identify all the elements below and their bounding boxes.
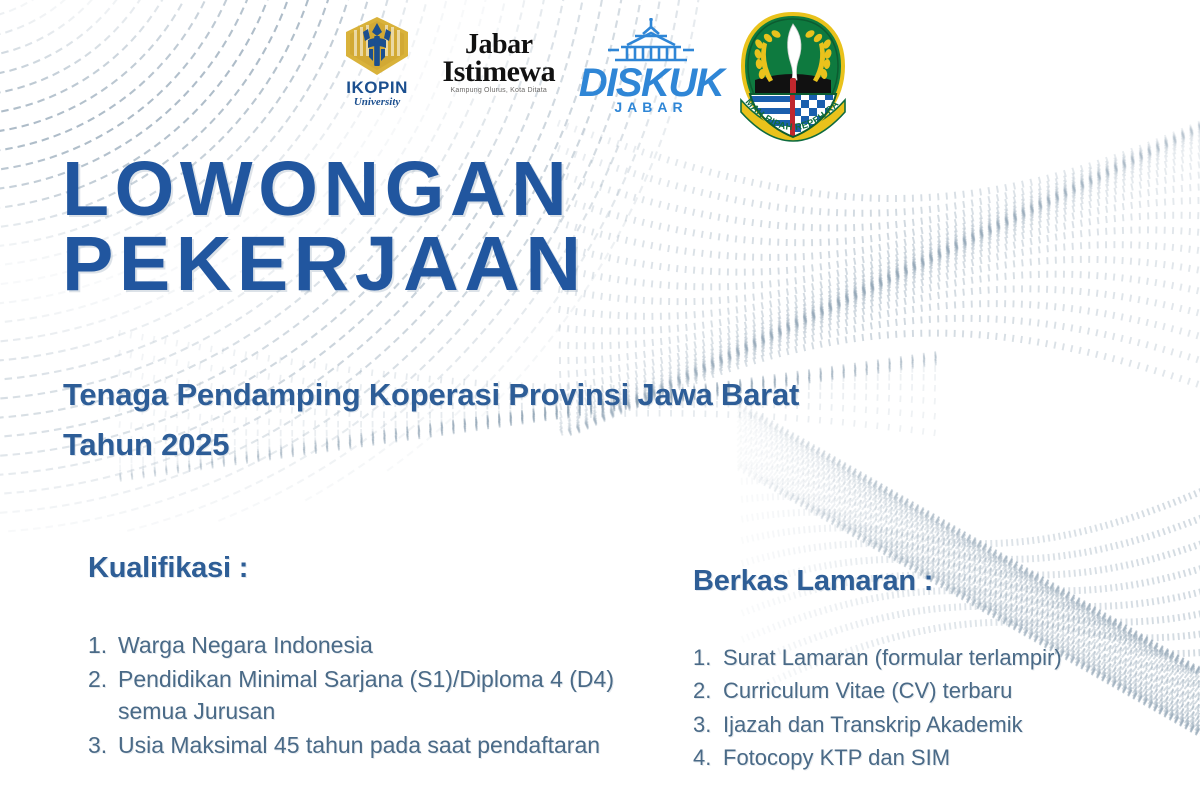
jabar-tagline: Kampung Olurus, Kota Ditata [430, 87, 567, 94]
subtitle-line-1: Tenaga Pendamping Koperasi Provinsi Jawa… [63, 370, 799, 420]
headline-line-1: LOWONGAN [62, 152, 586, 227]
diskuk-wordmark: DISKUK [577, 65, 724, 101]
list-item: Fotocopy KTP dan SIM [693, 742, 1183, 774]
documents-heading: Berkas Lamaran : [693, 565, 1183, 598]
headline-line-2: PEKERJAAN [62, 227, 586, 302]
ikopin-logo: IKOPIN University [330, 16, 424, 108]
list-item: Usia Maksimal 45 tahun pada saat pendaft… [88, 729, 648, 762]
list-item: Pendidikan Minimal Sarjana (S1)/Diploma … [88, 663, 648, 728]
poster-headline: LOWONGAN PEKERJAAN [62, 152, 586, 303]
qualifications-heading: Kualifikasi : [88, 552, 648, 585]
jabar-line2: Istimewa [430, 58, 567, 86]
diskuk-jabar-logo: DISKUK JABAR [577, 18, 724, 115]
documents-section: Berkas Lamaran : Surat Lamaran (formular… [693, 565, 1183, 775]
gedung-sate-icon [605, 18, 697, 64]
jabar-emblem-logo: GEMAH RIPAH REPEH RAPIH [733, 8, 860, 165]
qualifications-section: Kualifikasi : Warga Negara IndonesiaPend… [88, 552, 648, 763]
jabar-istimewa-logo: Jabar Istimewa Kampung Olurus, Kota Dita… [430, 32, 567, 94]
logo-row: IKOPIN University Jabar Istimewa Kampung… [330, 8, 860, 163]
qualifications-list: Warga Negara IndonesiaPendidikan Minimal… [88, 629, 648, 762]
jabar-line1: Jabar [430, 32, 567, 58]
list-item: Surat Lamaran (formular terlampir) [693, 642, 1183, 674]
ikopin-shield-icon [342, 16, 412, 78]
ikopin-name: IKOPIN [330, 79, 424, 96]
ikopin-subname: University [330, 97, 424, 108]
job-vacancy-poster: IKOPIN University Jabar Istimewa Kampung… [0, 0, 1200, 800]
documents-list: Surat Lamaran (formular terlampir)Curric… [693, 642, 1183, 774]
west-java-emblem-icon: GEMAH RIPAH REPEH RAPIH [733, 8, 853, 160]
list-item: Curriculum Vitae (CV) terbaru [693, 675, 1183, 707]
poster-subtitle: Tenaga Pendamping Koperasi Provinsi Jawa… [63, 370, 799, 469]
list-item: Warga Negara Indonesia [88, 629, 648, 662]
list-item: Ijazah dan Transkrip Akademik [693, 709, 1183, 741]
subtitle-line-2: Tahun 2025 [63, 420, 799, 470]
